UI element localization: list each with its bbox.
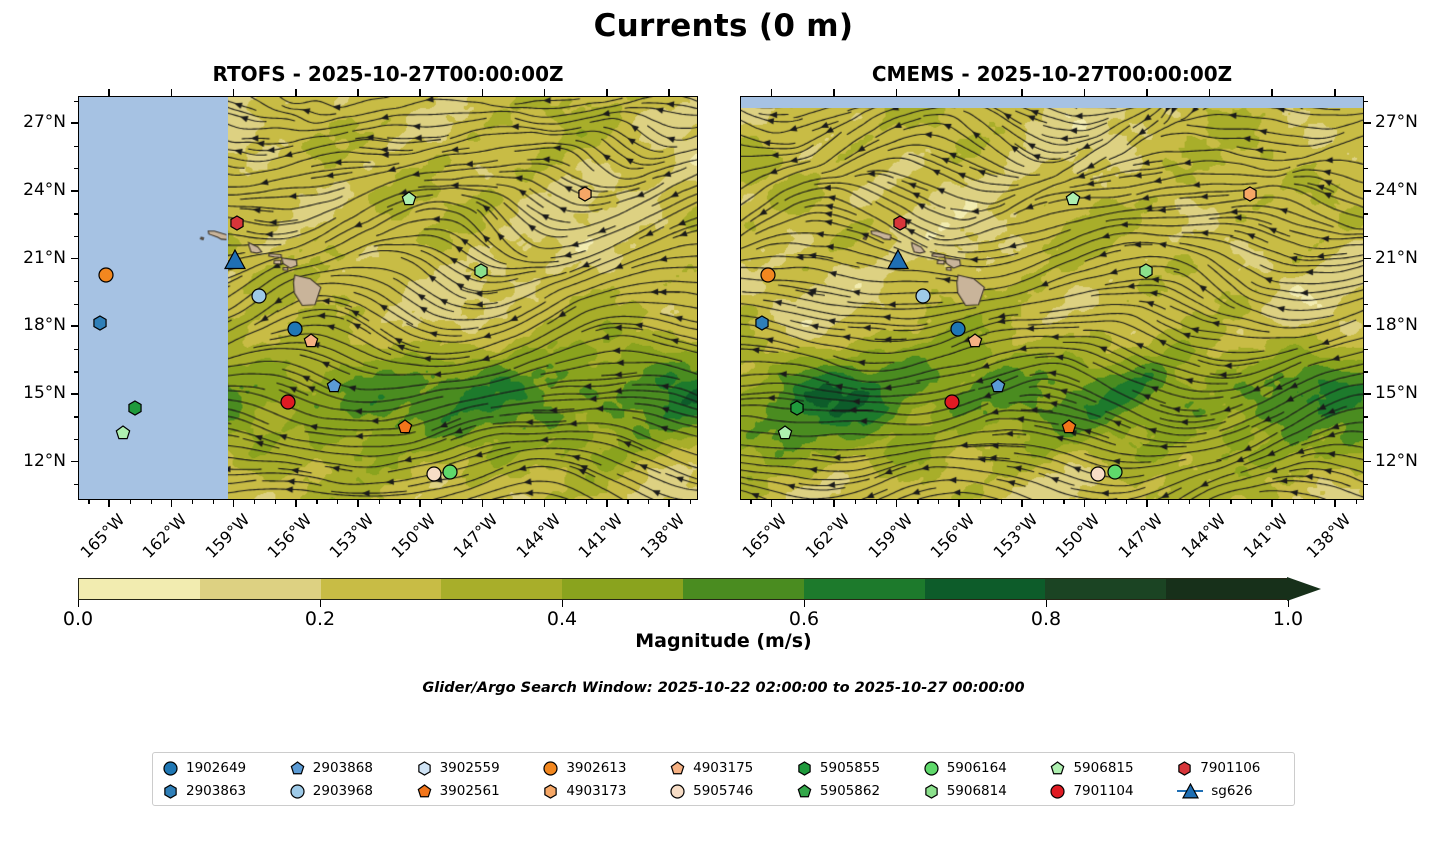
lon-tick-top	[482, 89, 484, 96]
lon-minor-tick	[627, 500, 628, 504]
search-window-caption: Glider/Argo Search Window: 2025-10-22 02…	[0, 680, 1447, 696]
lon-tick	[1334, 500, 1336, 507]
colorbar-band-5	[683, 579, 804, 599]
lat-minor-tick	[74, 146, 78, 147]
legend-label: 4903173	[566, 783, 626, 799]
platform-marker-4903173[interactable]	[577, 186, 593, 202]
colorbar-tick	[562, 600, 563, 607]
lon-minor-tick	[399, 500, 400, 504]
legend-entry-sg626[interactable]: sg626	[1167, 780, 1294, 802]
lon-minor-tick	[88, 500, 89, 504]
lon-tick-label: 147°W	[1111, 510, 1167, 566]
lon-minor-tick	[503, 500, 504, 504]
legend-marker-hexagon-icon	[924, 784, 939, 799]
lon-tick	[1209, 500, 1211, 507]
platform-marker-2903863[interactable]	[754, 315, 770, 331]
colorbar-band-6	[804, 579, 925, 599]
legend-row: 2903863290396839025614903173590574659058…	[153, 780, 1294, 802]
lon-tick-top	[1271, 89, 1273, 96]
no-data-region	[741, 97, 1363, 108]
lon-tick-label: 138°W	[1298, 510, 1354, 566]
lon-minor-tick	[254, 500, 255, 504]
colorbar-band-1	[200, 579, 321, 599]
legend-marker-circle-icon	[163, 761, 178, 776]
lon-tick-label: 144°W	[508, 510, 564, 566]
legend-label: 2903968	[313, 783, 373, 799]
legend-label: 5905862	[820, 783, 880, 799]
colorbar: 0.00.20.40.60.81.0	[78, 578, 1364, 600]
lon-tick-top	[771, 89, 773, 96]
platform-marker-5906164[interactable]	[442, 464, 458, 480]
lat-minor-tick	[74, 416, 78, 417]
lon-minor-tick	[1043, 500, 1044, 504]
platform-marker-5905855[interactable]	[127, 400, 143, 416]
lon-tick-top	[1084, 89, 1086, 96]
lat-tick-label: 12°N	[0, 451, 66, 471]
lon-minor-tick	[813, 500, 814, 504]
lat-minor-tick	[1364, 416, 1368, 417]
legend-entry-5905746[interactable]: 5905746	[660, 780, 787, 802]
lon-minor-tick	[1356, 500, 1357, 504]
lat-minor-tick	[1364, 146, 1368, 147]
legend-marker-triangle-icon	[1177, 783, 1203, 799]
figure-title: Currents (0 m)	[0, 8, 1447, 44]
legend-label: 4903175	[693, 760, 753, 776]
lat-tick-label: 18°N	[0, 315, 66, 335]
lat-minor-tick	[74, 236, 78, 237]
lon-tick	[233, 500, 235, 507]
colorbar-band-0	[79, 579, 200, 599]
colorbar-tick	[1288, 600, 1289, 607]
colorbar-tick-label: 0.4	[547, 608, 577, 630]
lon-tick-top	[295, 89, 297, 96]
panel-title-cmems: CMEMS - 2025-10-27T00:00:00Z	[740, 62, 1364, 86]
legend-entry-5906164[interactable]: 5906164	[914, 757, 1041, 779]
legend-marker-circle-icon	[670, 784, 685, 799]
lon-tick-top	[606, 89, 608, 96]
platform-marker-2903868[interactable]	[990, 378, 1006, 394]
lon-minor-tick	[565, 500, 566, 504]
lat-tick	[1364, 190, 1371, 192]
lon-tick	[833, 500, 835, 507]
lat-tick-label: 27°N	[1375, 112, 1418, 132]
legend-label: 2903868	[313, 760, 373, 776]
lat-minor-tick	[1364, 168, 1368, 169]
lon-tick-top	[171, 89, 173, 96]
colorbar-band-7	[925, 579, 1046, 599]
lon-tick	[1146, 500, 1148, 507]
lat-minor-tick	[1364, 349, 1368, 350]
lon-tick-label: 153°W	[321, 510, 377, 566]
platform-marker-5905855[interactable]	[789, 400, 805, 416]
lon-minor-tick	[855, 500, 856, 504]
lon-minor-tick	[213, 500, 214, 504]
lon-tick	[482, 500, 484, 507]
lon-tick	[419, 500, 421, 507]
lat-minor-tick	[1364, 101, 1368, 102]
legend-row: 1902649290386839025593902613490317559058…	[153, 757, 1294, 779]
lon-minor-tick	[750, 500, 751, 504]
legend-marker-hexagon-icon	[417, 761, 432, 776]
lon-minor-tick	[524, 500, 525, 504]
lat-minor-tick	[1364, 439, 1368, 440]
legend-entry-2903968[interactable]: 2903968	[280, 780, 407, 802]
legend-entry-1902649[interactable]: 1902649	[153, 757, 280, 779]
lon-tick-top	[1334, 89, 1336, 96]
lat-minor-tick	[1364, 484, 1368, 485]
colorbar-tick	[1046, 600, 1047, 607]
colorbar-band-2	[321, 579, 442, 599]
legend-marker-pentagon-icon	[670, 761, 685, 776]
lon-minor-tick	[980, 500, 981, 504]
legend-label: 3902561	[440, 783, 500, 799]
lon-tick	[1021, 500, 1023, 507]
lon-tick	[1084, 500, 1086, 507]
legend-label: 7901104	[1073, 783, 1133, 799]
lon-minor-tick	[1126, 500, 1127, 504]
lon-minor-tick	[938, 500, 939, 504]
lon-tick-label: 141°W	[1236, 510, 1292, 566]
platform-marker-2903863[interactable]	[92, 315, 108, 331]
platform-marker-4903175[interactable]	[967, 333, 983, 349]
platform-marker-5906815[interactable]	[777, 425, 793, 441]
platform-marker-2903968[interactable]	[915, 288, 931, 304]
map-panel-rtofs[interactable]	[78, 96, 698, 500]
lon-tick-top	[233, 89, 235, 96]
lat-minor-tick	[74, 281, 78, 282]
legend-entry-2903863[interactable]: 2903863	[153, 780, 280, 802]
legend-marker-circle-icon	[924, 761, 939, 776]
legend-label: 5906164	[947, 760, 1007, 776]
lon-tick-top	[833, 89, 835, 96]
platform-marker-7901104[interactable]	[944, 394, 960, 410]
colorbar-tick	[320, 600, 321, 607]
lon-tick-top	[108, 89, 110, 96]
lon-tick	[357, 500, 359, 507]
legend-entry-4903173[interactable]: 4903173	[533, 780, 660, 802]
platform-marker-5906815[interactable]	[115, 425, 131, 441]
legend-entry-5906815[interactable]: 5906815	[1040, 757, 1167, 779]
lon-tick-label: 162°W	[135, 510, 191, 566]
legend-box[interactable]: 1902649290386839025593902613490317559058…	[152, 752, 1295, 806]
lon-minor-tick	[876, 500, 877, 504]
lon-tick-label: 153°W	[985, 510, 1041, 566]
legend-marker-hexagon-icon	[1177, 761, 1192, 776]
lat-tick-label: 24°N	[1375, 180, 1418, 200]
lat-minor-tick	[1364, 236, 1368, 237]
lat-minor-tick	[74, 484, 78, 485]
lon-minor-tick	[648, 500, 649, 504]
map-panel-cmems[interactable]	[740, 96, 1364, 500]
colorbar-tick-label: 1.0	[1273, 608, 1303, 630]
lon-minor-tick	[1168, 500, 1169, 504]
colorbar-tick-label: 0.2	[305, 608, 335, 630]
lon-tick	[108, 500, 110, 507]
lat-tick	[71, 258, 78, 260]
platform-marker-5906815[interactable]	[1065, 191, 1081, 207]
legend-label: 3902613	[566, 760, 626, 776]
lon-minor-tick	[316, 500, 317, 504]
colorbar-band-4	[562, 579, 683, 599]
platform-marker-5906814[interactable]	[1138, 263, 1154, 279]
legend-entry-5906814[interactable]: 5906814	[914, 780, 1041, 802]
colorbar-extend-arrow	[1287, 577, 1321, 601]
lat-minor-tick	[74, 349, 78, 350]
lon-tick	[771, 500, 773, 507]
legend-label: 7901106	[1200, 760, 1260, 776]
lon-minor-tick	[337, 500, 338, 504]
lon-minor-tick	[1230, 500, 1231, 504]
lon-minor-tick	[690, 500, 691, 504]
lon-tick-label: 150°W	[1048, 510, 1104, 566]
lon-minor-tick	[151, 500, 152, 504]
platform-marker-sg626[interactable]	[887, 249, 909, 271]
colorbar-title: Magnitude (m/s)	[0, 630, 1447, 652]
lat-tick	[1364, 122, 1371, 124]
lat-minor-tick	[1364, 371, 1368, 372]
lat-tick	[1364, 461, 1371, 463]
lon-tick-top	[1146, 89, 1148, 96]
panel-title-rtofs: RTOFS - 2025-10-27T00:00:00Z	[78, 62, 698, 86]
lon-minor-tick	[130, 500, 131, 504]
lon-tick	[668, 500, 670, 507]
lat-tick	[71, 190, 78, 192]
legend-marker-circle-icon	[543, 761, 558, 776]
lon-tick-label: 150°W	[384, 510, 440, 566]
platform-marker-sg626[interactable]	[224, 249, 246, 271]
platform-marker-3902561[interactable]	[1061, 419, 1077, 435]
legend-entry-5905862[interactable]: 5905862	[787, 780, 914, 802]
platform-marker-4903173[interactable]	[1242, 186, 1258, 202]
lat-minor-tick	[1364, 213, 1368, 214]
colorbar-tick-label: 0.0	[63, 608, 93, 630]
lon-tick-label: 165°W	[735, 510, 791, 566]
lon-minor-tick	[1293, 500, 1294, 504]
legend-label: 5906814	[947, 783, 1007, 799]
lat-minor-tick	[74, 168, 78, 169]
lat-minor-tick	[74, 439, 78, 440]
lon-tick	[1271, 500, 1273, 507]
lon-minor-tick	[1251, 500, 1252, 504]
lat-minor-tick	[1364, 281, 1368, 282]
lat-minor-tick	[74, 213, 78, 214]
platform-marker-7901106[interactable]	[229, 215, 245, 231]
legend-entry-4903175[interactable]: 4903175	[660, 757, 787, 779]
platform-marker-3902561[interactable]	[397, 419, 413, 435]
platform-marker-7901106[interactable]	[892, 215, 908, 231]
colorbar-band-3	[441, 579, 562, 599]
lon-tick-top	[668, 89, 670, 96]
lon-minor-tick	[1001, 500, 1002, 504]
platform-marker-2903868[interactable]	[326, 378, 342, 394]
platform-marker-3902613[interactable]	[98, 267, 114, 283]
lon-minor-tick	[1063, 500, 1064, 504]
lat-tick	[71, 325, 78, 327]
legend-marker-hexagon-icon	[797, 761, 812, 776]
colorbar-band-8	[1045, 579, 1166, 599]
lat-tick-label: 21°N	[0, 248, 66, 268]
platform-marker-5905746[interactable]	[1090, 466, 1106, 482]
lon-minor-tick	[462, 500, 463, 504]
platform-marker-5906815[interactable]	[401, 191, 417, 207]
lon-minor-tick	[1189, 500, 1190, 504]
colorbar-gradient	[78, 578, 1288, 600]
lon-tick-top	[896, 89, 898, 96]
lat-tick-label: 15°N	[1375, 383, 1418, 403]
lat-minor-tick	[1364, 304, 1368, 305]
legend-marker-pentagon-icon	[1050, 761, 1065, 776]
legend-entry-7901104[interactable]: 7901104	[1040, 780, 1167, 802]
platform-marker-7901104[interactable]	[280, 394, 296, 410]
land-mask-hawaii	[741, 97, 1363, 499]
colorbar-band-9	[1166, 579, 1287, 599]
lon-tick	[958, 500, 960, 507]
legend-label: 2903863	[186, 783, 246, 799]
platform-marker-5905746[interactable]	[426, 466, 442, 482]
lon-tick-top	[544, 89, 546, 96]
lat-tick	[71, 122, 78, 124]
lat-tick	[1364, 393, 1371, 395]
lat-minor-tick	[74, 101, 78, 102]
lon-tick-top	[1209, 89, 1211, 96]
lon-minor-tick	[1314, 500, 1315, 504]
platform-marker-4903175[interactable]	[303, 333, 319, 349]
legend-label: 1902649	[186, 760, 246, 776]
lon-tick-label: 138°W	[633, 510, 689, 566]
legend-entry-7901106[interactable]: 7901106	[1167, 757, 1294, 779]
lon-tick-top	[357, 89, 359, 96]
lat-tick-label: 27°N	[0, 112, 66, 132]
lon-tick-label: 159°W	[197, 510, 253, 566]
lon-minor-tick	[586, 500, 587, 504]
lat-minor-tick	[74, 304, 78, 305]
legend-marker-pentagon-icon	[797, 784, 812, 799]
lon-minor-tick	[441, 500, 442, 504]
legend-entry-5905855[interactable]: 5905855	[787, 757, 914, 779]
legend-marker-pentagon-icon	[290, 761, 305, 776]
lon-minor-tick	[792, 500, 793, 504]
legend-entry-3902559[interactable]: 3902559	[407, 757, 534, 779]
lat-tick	[71, 461, 78, 463]
legend-marker-pentagon-icon	[417, 784, 432, 799]
lon-minor-tick	[1105, 500, 1106, 504]
lon-minor-tick	[192, 500, 193, 504]
lat-tick-label: 21°N	[1375, 248, 1418, 268]
colorbar-tick-label: 0.8	[1031, 608, 1061, 630]
legend-entry-2903868[interactable]: 2903868	[280, 757, 407, 779]
legend-label: 3902559	[440, 760, 500, 776]
colorbar-tick-label: 0.6	[789, 608, 819, 630]
lon-tick-top	[958, 89, 960, 96]
lon-tick	[295, 500, 297, 507]
platform-marker-5906164[interactable]	[1107, 464, 1123, 480]
legend-marker-circle-icon	[290, 784, 305, 799]
lat-tick	[1364, 258, 1371, 260]
legend-marker-hexagon-icon	[543, 784, 558, 799]
lon-minor-tick	[379, 500, 380, 504]
lon-tick-label: 165°W	[73, 510, 129, 566]
colorbar-tick	[78, 600, 79, 607]
lon-tick-label: 162°W	[797, 510, 853, 566]
lon-tick	[544, 500, 546, 507]
lon-tick-label: 147°W	[446, 510, 502, 566]
legend-label: 5905746	[693, 783, 753, 799]
legend-label: 5906815	[1073, 760, 1133, 776]
platform-marker-1902649[interactable]	[950, 321, 966, 337]
legend-entry-3902561[interactable]: 3902561	[407, 780, 534, 802]
lon-minor-tick	[275, 500, 276, 504]
lon-tick	[606, 500, 608, 507]
lat-tick	[71, 393, 78, 395]
legend-label: sg626	[1211, 783, 1252, 799]
lon-tick-label: 144°W	[1173, 510, 1229, 566]
lon-tick-label: 156°W	[259, 510, 315, 566]
legend-marker-hexagon-icon	[163, 784, 178, 799]
legend-label: 5905855	[820, 760, 880, 776]
lon-tick-top	[1021, 89, 1023, 96]
lon-tick-top	[419, 89, 421, 96]
platform-marker-3902613[interactable]	[760, 267, 776, 283]
legend-marker-circle-icon	[1050, 784, 1065, 799]
lon-minor-tick	[917, 500, 918, 504]
colorbar-tick	[804, 600, 805, 607]
legend-entry-3902613[interactable]: 3902613	[533, 757, 660, 779]
platform-marker-5906814[interactable]	[473, 263, 489, 279]
lon-tick-label: 159°W	[860, 510, 916, 566]
platform-marker-2903968[interactable]	[251, 288, 267, 304]
lon-tick-label: 141°W	[570, 510, 626, 566]
lon-tick-label: 156°W	[923, 510, 979, 566]
lat-tick-label: 12°N	[1375, 451, 1418, 471]
lon-tick	[896, 500, 898, 507]
lon-tick	[171, 500, 173, 507]
lat-tick-label: 24°N	[0, 180, 66, 200]
lat-tick	[1364, 325, 1371, 327]
lat-tick-label: 15°N	[0, 383, 66, 403]
lat-tick-label: 18°N	[1375, 315, 1418, 335]
platform-marker-1902649[interactable]	[287, 321, 303, 337]
lat-minor-tick	[74, 371, 78, 372]
